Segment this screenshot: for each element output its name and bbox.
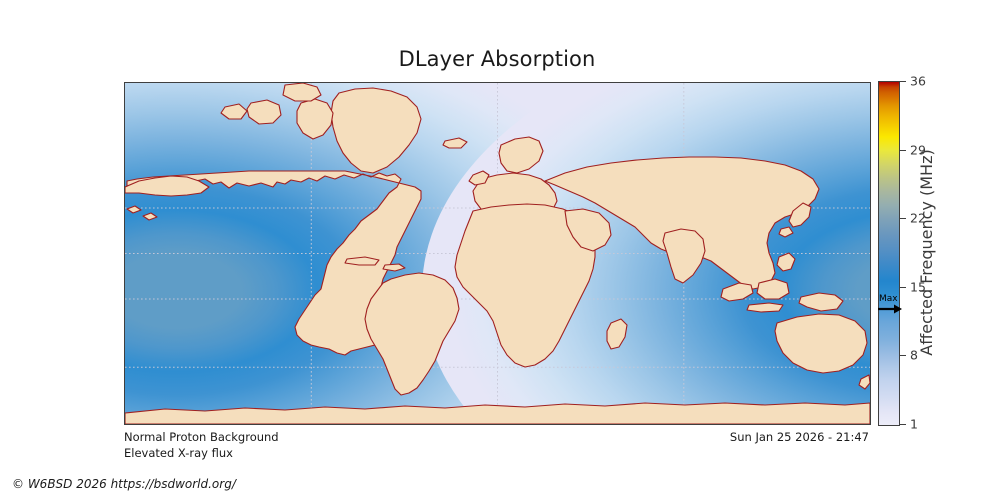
page-title: DLayer Absorption (0, 47, 994, 71)
copyright-text: © W6BSD 2026 https://bsdworld.org/ (12, 477, 236, 491)
xray-status-text: Elevated X-ray flux (124, 446, 233, 460)
timestamp-text: Sun Jan 25 2026 - 21:47 (0, 430, 869, 444)
map-clip (125, 83, 870, 424)
world-map-svg (125, 83, 870, 424)
figure-canvas: DLayer Absorption (0, 0, 1000, 500)
colorbar-tick (900, 150, 906, 151)
colorbar-tick (900, 424, 906, 425)
map-plot-area[interactable] (124, 82, 871, 425)
land-borneo (757, 279, 789, 299)
colorbar-tick (900, 218, 906, 219)
colorbar-tick (900, 81, 906, 82)
land-java (747, 303, 783, 312)
colorbar-tick (900, 355, 906, 356)
colorbar-tick (900, 287, 906, 288)
colorbar-gradient (879, 82, 899, 425)
colorbar[interactable]: Max (878, 81, 900, 426)
colorbar-axis-label: Affected Frequency (MHz) (916, 81, 1000, 424)
